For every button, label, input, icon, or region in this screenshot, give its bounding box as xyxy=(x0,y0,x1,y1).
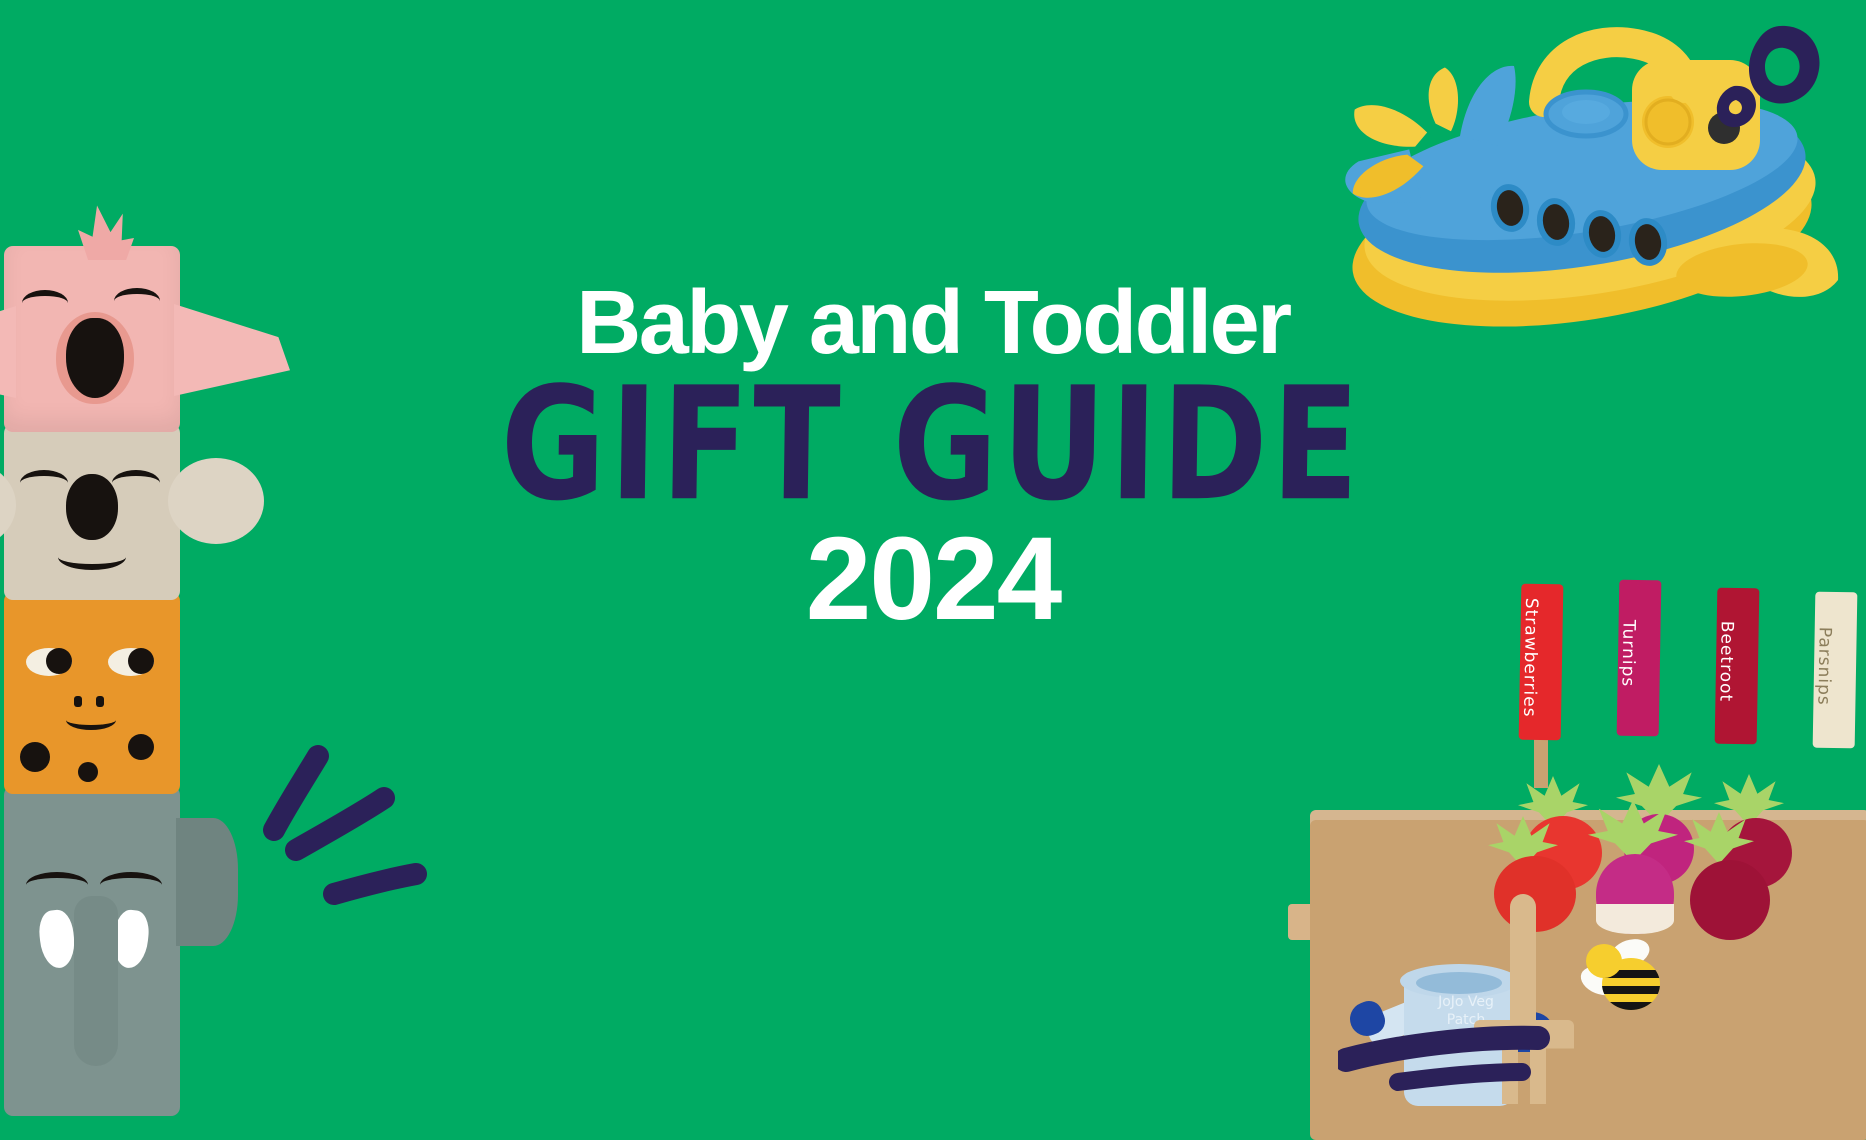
koala-nose-icon xyxy=(66,474,118,540)
flamingo-wing-right-icon xyxy=(174,304,290,396)
giraffe-spot xyxy=(20,742,50,772)
veg-label-turnips: Turnips xyxy=(1617,580,1662,737)
koala-ear-left-icon xyxy=(0,462,16,548)
giraffe-smile-icon xyxy=(66,710,116,730)
underline-doodle xyxy=(1338,1024,1558,1104)
koala-eye-left-icon xyxy=(20,470,68,496)
stacking-animal-toy xyxy=(0,196,286,1140)
veg-label-strawberries: Strawberries xyxy=(1519,584,1564,741)
speed-lines-doodle xyxy=(258,742,428,922)
koala-ear-right-icon xyxy=(168,458,264,544)
koala-smile-icon xyxy=(58,544,126,570)
elephant-ear-icon xyxy=(176,818,238,946)
gift-guide-banner: Strawberries Turnips Beetroot Parsnips xyxy=(0,0,1866,1140)
elephant-trunk-icon xyxy=(74,896,118,1066)
koala-eye-right-icon xyxy=(112,470,160,496)
bee-head-icon xyxy=(1586,944,1622,978)
giraffe-cube xyxy=(4,592,180,794)
giraffe-nostril-right-icon xyxy=(96,696,104,707)
flamingo-eye-right-icon xyxy=(114,288,160,314)
giraffe-nostril-left-icon xyxy=(74,696,82,707)
flamingo-crest-icon xyxy=(78,202,134,260)
elephant-eye-left-icon xyxy=(26,872,88,898)
elephant-tusk-left-icon xyxy=(37,908,77,969)
giraffe-eye-right-icon xyxy=(108,648,154,676)
giraffe-spot xyxy=(78,762,98,782)
veg-label-beetroot: Beetroot xyxy=(1715,588,1760,745)
veg-label-parsnips: Parsnips xyxy=(1813,592,1858,749)
elephant-eye-right-icon xyxy=(100,872,162,898)
flamingo-eye-left-icon xyxy=(22,290,68,316)
giraffe-spot xyxy=(128,734,154,760)
flamingo-beak-inner-icon xyxy=(66,318,124,398)
flamingo-wing-left-icon xyxy=(0,306,16,398)
koala-cube xyxy=(4,424,180,600)
flamingo-cube xyxy=(4,246,180,432)
beetroot xyxy=(1690,860,1770,940)
elephant-cube xyxy=(4,786,180,1116)
bee-figure xyxy=(1584,942,1668,1018)
giraffe-eye-left-icon xyxy=(26,648,72,676)
turnip-root xyxy=(1596,904,1674,934)
circle-doodle-large xyxy=(1712,14,1832,144)
